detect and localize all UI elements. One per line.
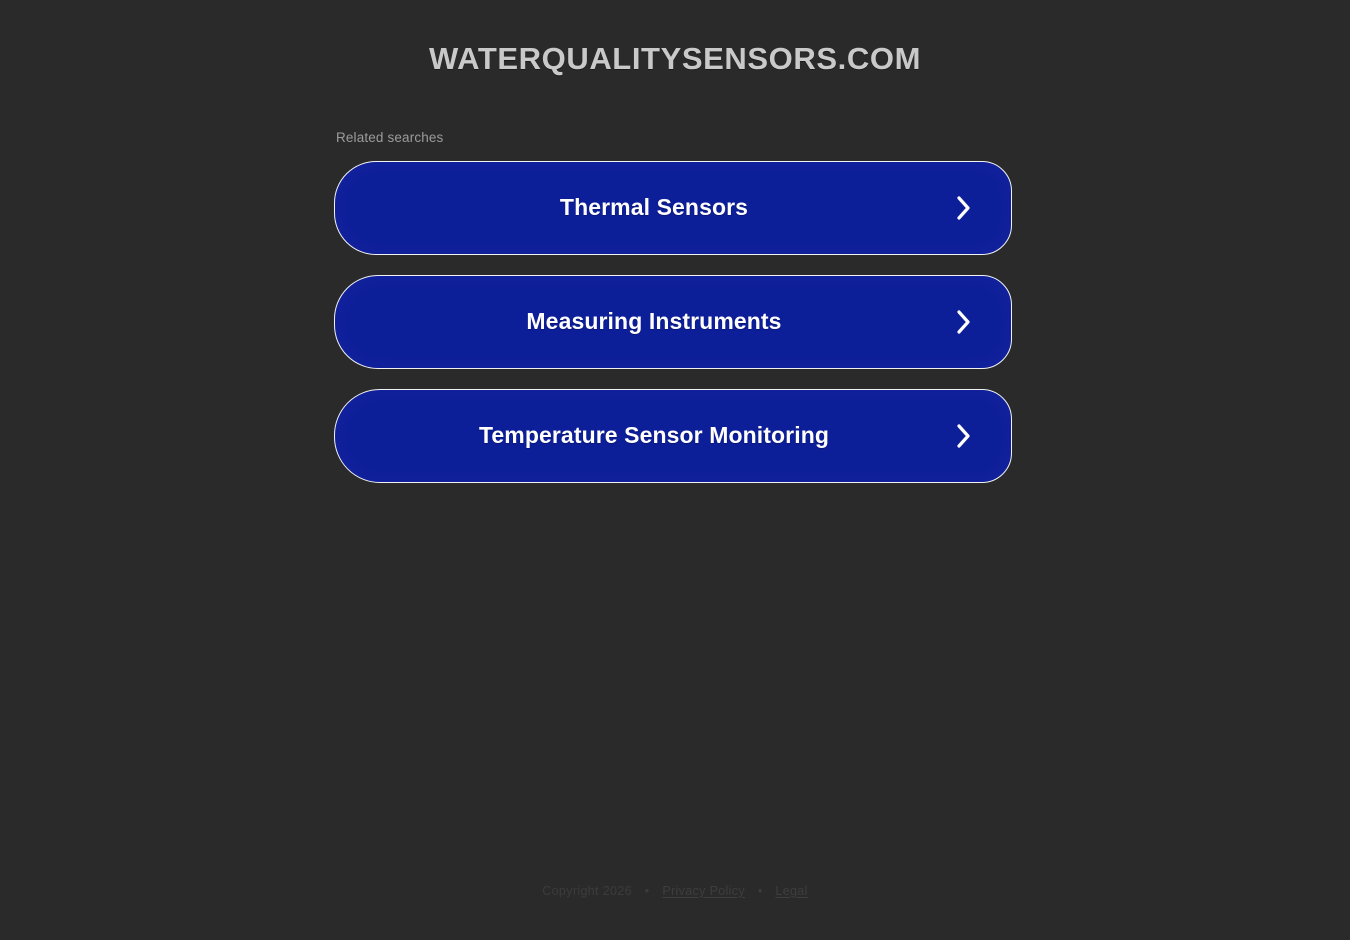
related-search-item-measuring-instruments[interactable]: Measuring Instruments xyxy=(334,275,1012,369)
site-footer: Copyright 2026 • Privacy Policy • Legal xyxy=(0,883,1350,901)
main-content: Related searches Thermal Sensors Measuri… xyxy=(334,129,1016,483)
chevron-right-icon xyxy=(951,309,977,335)
related-searches-list: Thermal Sensors Measuring Instruments Te… xyxy=(334,161,1016,483)
page-root: WATERQUALITYSENSORS.COM Related searches… xyxy=(0,0,1350,940)
related-searches-label: Related searches xyxy=(334,129,1016,147)
page-title: WATERQUALITYSENSORS.COM xyxy=(429,40,921,77)
related-search-label: Measuring Instruments xyxy=(365,307,951,336)
footer-separator: • xyxy=(636,883,659,901)
copyright-text: Copyright 2026 xyxy=(542,884,632,898)
chevron-right-icon xyxy=(951,423,977,449)
related-search-label: Temperature Sensor Monitoring xyxy=(365,421,951,450)
legal-link[interactable]: Legal xyxy=(775,884,807,898)
privacy-policy-link[interactable]: Privacy Policy xyxy=(662,884,745,898)
related-search-item-temperature-sensor-monitoring[interactable]: Temperature Sensor Monitoring xyxy=(334,389,1012,483)
site-header: WATERQUALITYSENSORS.COM xyxy=(0,0,1350,77)
chevron-right-icon xyxy=(951,195,977,221)
footer-separator: • xyxy=(749,883,772,901)
related-search-item-thermal-sensors[interactable]: Thermal Sensors xyxy=(334,161,1012,255)
related-search-label: Thermal Sensors xyxy=(365,193,951,222)
